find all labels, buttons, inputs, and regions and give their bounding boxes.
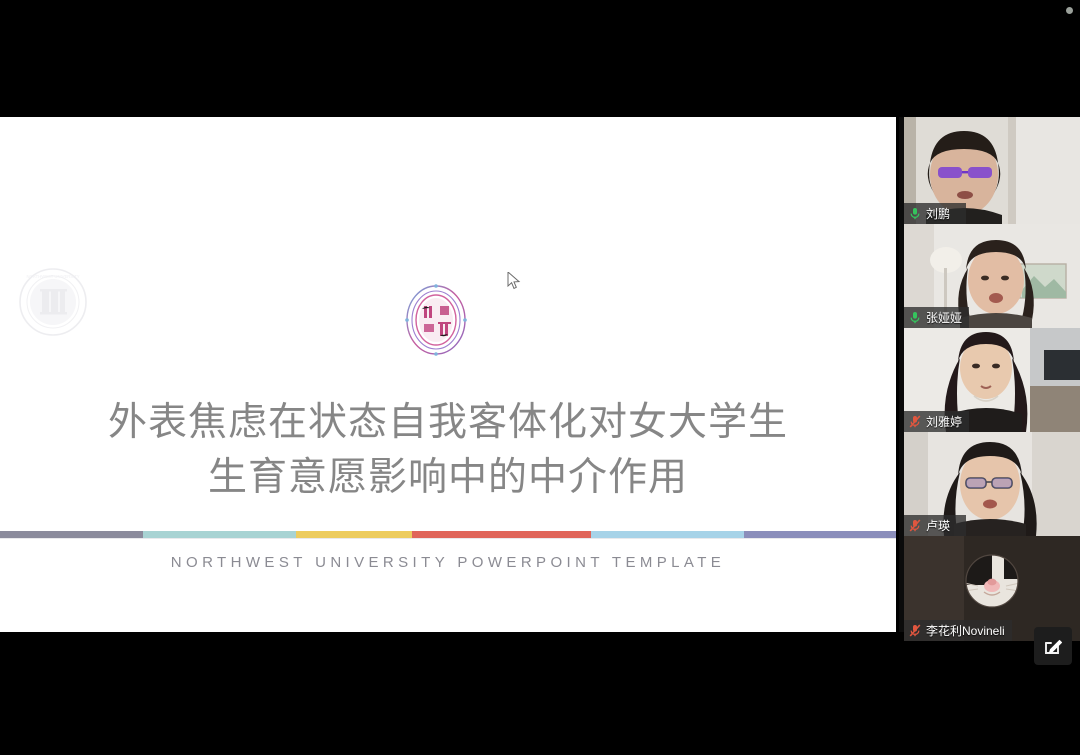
rule-segment-5 [591, 531, 743, 538]
participant-tile-luying[interactable]: 卢瑛 [904, 432, 1080, 536]
slide-color-rule-bar [0, 531, 896, 538]
annotate-button[interactable] [1034, 627, 1072, 665]
participant-namebar-lihuali: 李花利Novineli [904, 620, 1012, 641]
mic-muted-icon [909, 415, 921, 428]
mic-unmuted-icon [909, 311, 921, 324]
mic-unmuted-icon [909, 207, 921, 220]
participant-name-lihuali: 李花利Novineli [926, 622, 1005, 639]
university-seal-watermark-icon: NORTHWEST UNIVERSITY [18, 267, 88, 337]
mouse-cursor-pointer [507, 272, 521, 290]
slide-title-line-2: 生育意愿影响中的中介作用 [0, 450, 896, 505]
rule-segment-1 [0, 531, 143, 538]
slide-subtitle: NORTHWEST UNIVERSITY POWERPOINT TEMPLATE [0, 554, 896, 571]
meeting-screen-share-view: NORTHWEST UNIVERSITY [0, 0, 1080, 755]
shared-slide-content[interactable]: NORTHWEST UNIVERSITY [0, 117, 896, 632]
slide-hairline-divider [0, 538, 896, 539]
mic-muted-icon [909, 624, 921, 637]
participant-filmstrip[interactable]: 刘鹏 [904, 117, 1080, 641]
participant-tile-liuyating[interactable]: 刘雅婷 [904, 328, 1080, 432]
pencil-square-icon [1042, 635, 1064, 657]
participant-namebar-liuyating: 刘雅婷 [904, 411, 969, 432]
participant-tile-zhangyaya[interactable]: 张娅娅 [904, 224, 1080, 328]
participant-tile-lihuali[interactable]: 李花利Novineli [904, 536, 1080, 641]
slide-title: 外表焦虑在状态自我客体化对女大学生 生育意愿影响中的中介作用 [0, 395, 896, 505]
svg-text:NORTHWEST UNIVERSITY: NORTHWEST UNIVERSITY [26, 274, 79, 279]
participant-name-liupeng: 刘鹏 [926, 205, 950, 222]
participant-name-zhangyaya: 张娅娅 [926, 309, 962, 326]
slide-title-line-1: 外表焦虑在状态自我客体化对女大学生 [0, 395, 896, 450]
participant-tile-liupeng[interactable]: 刘鹏 [904, 117, 1080, 224]
rule-segment-2 [143, 531, 295, 538]
mic-muted-icon [909, 519, 921, 532]
participant-name-liuyating: 刘雅婷 [926, 413, 962, 430]
rule-segment-4 [412, 531, 591, 538]
recording-indicator-dot [1066, 7, 1073, 14]
rule-segment-6 [744, 531, 896, 538]
participant-namebar-zhangyaya: 张娅娅 [904, 307, 969, 328]
northwest-university-emblem-icon [396, 276, 476, 364]
rule-segment-3 [296, 531, 412, 538]
participant-namebar-liupeng: 刘鹏 [904, 203, 966, 224]
participant-name-luying: 卢瑛 [926, 517, 950, 534]
participant-namebar-luying: 卢瑛 [904, 515, 966, 536]
